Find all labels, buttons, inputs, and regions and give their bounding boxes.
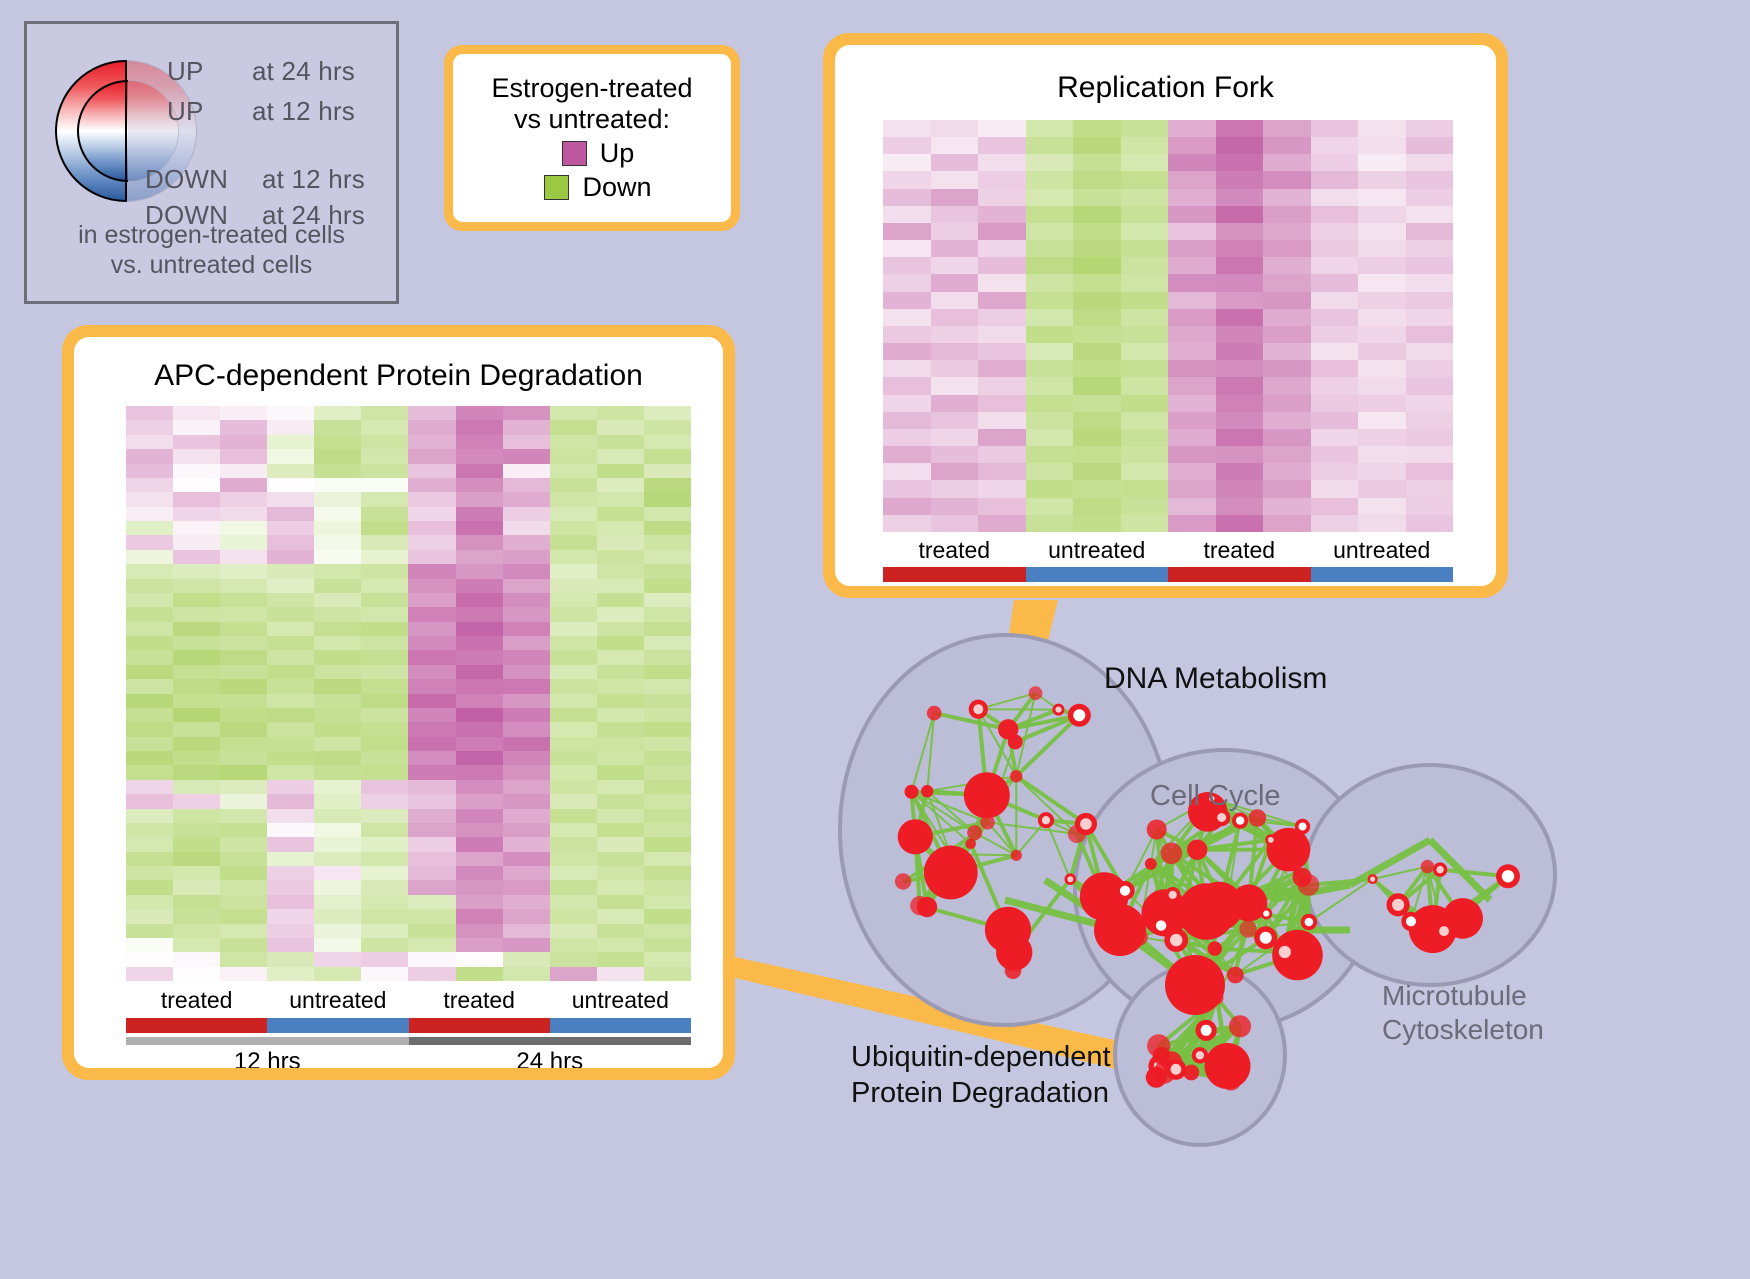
down-swatch-icon bbox=[544, 175, 569, 200]
network-node-core bbox=[1217, 813, 1226, 822]
network-node bbox=[1011, 850, 1022, 861]
treatment-segment-3 bbox=[1311, 567, 1454, 582]
legend-label-up: Up bbox=[600, 138, 635, 169]
network-node bbox=[1145, 858, 1157, 870]
time-label-1: 24 hrs bbox=[409, 1048, 692, 1068]
circle-divider bbox=[125, 60, 127, 202]
group-label-3: untreated bbox=[1311, 537, 1454, 567]
network-node bbox=[1010, 770, 1022, 782]
apc-time-labels: 12 hrs24 hrs bbox=[126, 1048, 691, 1068]
network-node bbox=[1195, 882, 1244, 931]
network-node-core bbox=[1196, 1051, 1204, 1059]
color-legend-box: Estrogen-treated vs untreated: Up Down bbox=[444, 45, 740, 231]
network-node-core bbox=[1260, 932, 1272, 944]
network-node-core bbox=[1073, 709, 1085, 721]
legend-item-up: Up bbox=[550, 138, 635, 169]
network-node bbox=[1239, 920, 1256, 937]
key-term-down-12: DOWN bbox=[145, 164, 228, 195]
group-label-2: treated bbox=[1168, 537, 1311, 567]
pathway-network bbox=[790, 600, 1750, 1279]
group-label-3: untreated bbox=[550, 987, 691, 1017]
network-node bbox=[1146, 1067, 1167, 1088]
microtubule-line-1: Microtubule bbox=[1382, 979, 1544, 1013]
ubiquitin-line-2: Protein Degradation bbox=[851, 1075, 1111, 1111]
network-node-core bbox=[1067, 876, 1073, 882]
replication-fork-group-labels: treateduntreatedtreateduntreated bbox=[883, 537, 1453, 567]
caption-line-2: vs. untreated cells bbox=[27, 250, 396, 280]
network-node bbox=[1094, 904, 1146, 956]
treatment-segment-1 bbox=[1026, 567, 1169, 582]
network-node bbox=[1221, 1070, 1242, 1091]
network-node bbox=[921, 785, 933, 797]
key-time-up-12: at 12 hrs bbox=[252, 96, 355, 127]
panel-apc-degradation: APC-dependent Protein Degradation treate… bbox=[62, 325, 735, 1080]
network-node-core bbox=[1439, 926, 1449, 936]
network-node bbox=[1187, 840, 1207, 860]
replication-fork-title: Replication Fork bbox=[835, 71, 1496, 105]
network-node bbox=[1208, 941, 1222, 955]
network-node-core bbox=[1263, 911, 1269, 917]
network-node bbox=[1029, 686, 1043, 700]
network-node bbox=[980, 815, 995, 830]
network-node bbox=[998, 719, 1018, 739]
network-node bbox=[1218, 905, 1233, 920]
network-node-core bbox=[1268, 837, 1274, 843]
circle-key-box: UP at 24 hrs UP at 12 hrs DOWN at 12 hrs… bbox=[24, 21, 399, 304]
replication-fork-heatmap bbox=[883, 120, 1453, 532]
time-label-0: 12 hrs bbox=[126, 1048, 409, 1068]
treatment-segment-1 bbox=[267, 1018, 408, 1033]
network-node bbox=[967, 825, 982, 840]
key-time-up-24: at 24 hrs bbox=[252, 56, 355, 87]
network-node-core bbox=[1170, 934, 1182, 946]
legend-title-line-2: vs untreated: bbox=[491, 104, 692, 135]
treatment-segment-2 bbox=[1168, 567, 1311, 582]
network-node-core bbox=[973, 704, 983, 714]
group-label-1: untreated bbox=[267, 987, 408, 1017]
group-label-1: untreated bbox=[1026, 537, 1169, 567]
network-node-core bbox=[1370, 877, 1375, 882]
network-node-core bbox=[1042, 816, 1050, 824]
network-node bbox=[1008, 953, 1020, 965]
network-node bbox=[1005, 962, 1022, 979]
network-node bbox=[1176, 909, 1191, 924]
network-node bbox=[895, 873, 911, 889]
network-node-core bbox=[1201, 1025, 1212, 1036]
network-node-core bbox=[1120, 886, 1130, 896]
panel-replication-fork: Replication Fork treateduntreatedtreated… bbox=[823, 33, 1508, 598]
key-term-up-24: UP bbox=[167, 56, 204, 87]
apc-title: APC-dependent Protein Degradation bbox=[74, 359, 723, 393]
network-node bbox=[1227, 967, 1244, 984]
group-label-0: treated bbox=[883, 537, 1026, 567]
apc-treatment-bar bbox=[126, 1018, 691, 1033]
up-swatch-icon bbox=[562, 141, 587, 166]
network-node bbox=[1421, 860, 1434, 873]
network-node-core bbox=[1392, 899, 1404, 911]
time-segment-1 bbox=[409, 1037, 692, 1045]
network-node-core bbox=[1156, 920, 1166, 930]
network-node-core bbox=[1236, 816, 1244, 824]
apc-group-labels: treateduntreatedtreateduntreated bbox=[126, 987, 691, 1017]
network-node bbox=[1161, 843, 1183, 865]
replication-fork-treatment-bar bbox=[883, 567, 1453, 582]
label-cell-cycle: Cell Cycle bbox=[1150, 780, 1281, 813]
network-node bbox=[1213, 1061, 1225, 1073]
circle-key-caption: in estrogen-treated cells vs. untreated … bbox=[27, 220, 396, 280]
caption-line-1: in estrogen-treated cells bbox=[27, 220, 396, 250]
network-node-core bbox=[1055, 707, 1061, 713]
network-node-core bbox=[1171, 1064, 1182, 1075]
group-label-2: treated bbox=[409, 987, 550, 1017]
legend-item-down: Down bbox=[532, 172, 651, 203]
color-legend-title: Estrogen-treated vs untreated: bbox=[491, 73, 692, 135]
network-node bbox=[898, 819, 933, 854]
network-node-core bbox=[1502, 870, 1514, 882]
network-node-core bbox=[1299, 823, 1307, 831]
network-node-core bbox=[1080, 818, 1092, 830]
network-node-core bbox=[1436, 866, 1443, 873]
network-node bbox=[1165, 955, 1225, 1015]
treatment-segment-3 bbox=[550, 1018, 691, 1033]
figure-canvas: UP at 24 hrs UP at 12 hrs DOWN at 12 hrs… bbox=[0, 0, 1750, 1279]
label-dna-metabolism: DNA Metabolism bbox=[1104, 662, 1327, 696]
group-label-0: treated bbox=[126, 987, 267, 1017]
label-microtubule-cytoskeleton: Microtubule Cytoskeleton bbox=[1382, 979, 1544, 1047]
network-node bbox=[942, 845, 960, 863]
apc-heatmap bbox=[126, 406, 691, 981]
network-node bbox=[1293, 867, 1303, 877]
time-segment-0 bbox=[126, 1037, 409, 1045]
legend-label-down: Down bbox=[582, 172, 651, 203]
network-node-core bbox=[1279, 946, 1291, 958]
network-node bbox=[917, 897, 937, 917]
apc-time-bar bbox=[126, 1037, 691, 1045]
ubiquitin-line-1: Ubiquitin-dependent bbox=[851, 1039, 1111, 1075]
label-ubiquitin-protein-degradation: Ubiquitin-dependent Protein Degradation bbox=[851, 1039, 1111, 1111]
treatment-segment-0 bbox=[883, 567, 1026, 582]
network-node bbox=[1267, 828, 1311, 872]
network-node bbox=[905, 785, 919, 799]
network-node bbox=[1147, 820, 1167, 840]
network-node bbox=[927, 706, 942, 721]
key-term-up-12: UP bbox=[167, 96, 204, 127]
network-node bbox=[964, 772, 1010, 818]
network-node bbox=[1153, 1047, 1171, 1065]
network-node-core bbox=[1305, 918, 1314, 927]
microtubule-line-2: Cytoskeleton bbox=[1382, 1013, 1544, 1047]
network-node bbox=[1229, 1015, 1251, 1037]
treatment-segment-0 bbox=[126, 1018, 267, 1033]
network-node-core bbox=[1406, 916, 1416, 926]
network-node-core bbox=[1169, 891, 1177, 899]
treatment-segment-2 bbox=[409, 1018, 550, 1033]
legend-title-line-1: Estrogen-treated bbox=[491, 73, 692, 104]
key-time-down-12: at 12 hrs bbox=[262, 164, 365, 195]
